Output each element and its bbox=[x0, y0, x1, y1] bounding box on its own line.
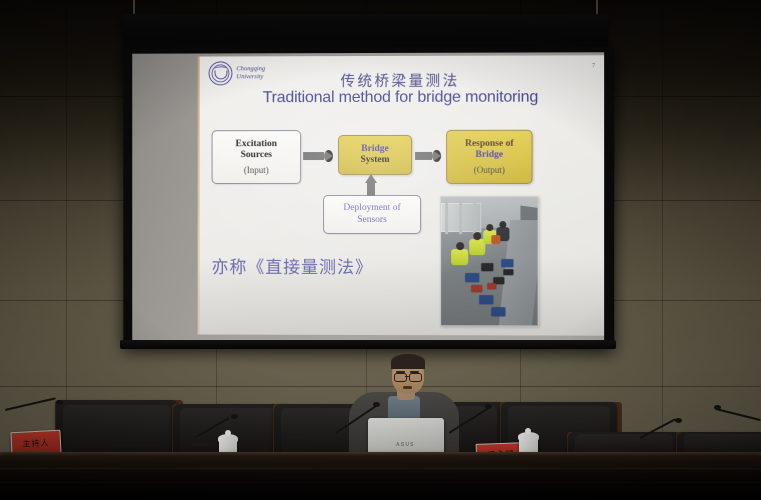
chair bbox=[56, 400, 178, 458]
arrow-up-icon bbox=[364, 174, 377, 196]
box-line-1: Deployment of bbox=[324, 203, 420, 215]
slide-footer-chinese: 亦称《直接量测法》 bbox=[212, 253, 373, 278]
speaker-mouth bbox=[403, 386, 412, 389]
arrow-right-icon bbox=[303, 149, 333, 162]
screen-bottom-bar bbox=[120, 340, 616, 349]
diagram-box-bridge-system: Bridge System bbox=[338, 135, 412, 175]
glasses-icon bbox=[409, 373, 422, 382]
box-line-3: (Output) bbox=[447, 161, 531, 175]
box-line-3: (Input) bbox=[213, 162, 301, 176]
arrow-right-icon bbox=[415, 149, 441, 162]
diagram-box-response-of-bridge: Response of Bridge (Output) bbox=[446, 130, 532, 184]
laptop-brand-label: ASUS bbox=[396, 442, 415, 448]
slide-title-english: Traditional method for bridge monitoring bbox=[198, 88, 604, 107]
glasses-icon bbox=[394, 373, 407, 382]
foreground-shadow bbox=[0, 470, 761, 500]
box-line-2: Bridge bbox=[447, 150, 531, 162]
bridge-sensor-photo bbox=[440, 196, 538, 326]
speaker-hair bbox=[391, 354, 425, 369]
box-line-2: Sensors bbox=[324, 214, 420, 226]
glasses-bridge bbox=[405, 376, 409, 377]
diagram-box-excitation-sources: Excitation Sources (Input) bbox=[212, 130, 302, 184]
box-line-1: Response of bbox=[447, 138, 531, 150]
box-line-1: Excitation bbox=[213, 139, 301, 151]
wall-seam bbox=[0, 386, 761, 387]
diagram-box-deployment-of-sensors: Deployment of Sensors bbox=[323, 195, 421, 234]
presentation-scene: 激活 Windows 转到"设置"以激活 Windows。 Chongqing … bbox=[0, 0, 761, 500]
box-line-1: Bridge bbox=[339, 143, 411, 155]
box-line-2: Sources bbox=[213, 150, 301, 162]
box-line-2: System bbox=[339, 155, 411, 167]
slide: Chongqing University 7 传统桥梁量测法 Tradition… bbox=[198, 55, 604, 335]
screen-surface: 激活 Windows 转到"设置"以激活 Windows。 Chongqing … bbox=[132, 52, 604, 341]
nameplate-text: 主持人 bbox=[22, 437, 50, 449]
projector-screen: 激活 Windows 转到"设置"以激活 Windows。 Chongqing … bbox=[123, 47, 614, 347]
